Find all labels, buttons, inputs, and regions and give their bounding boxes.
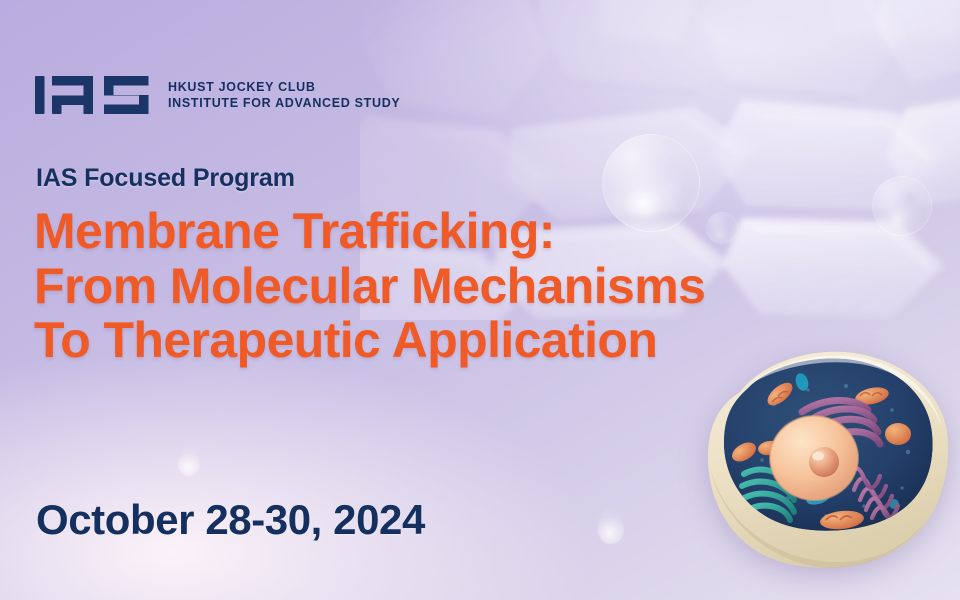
droplet-right-decor — [598, 508, 624, 544]
headline-line-3: To Therapeutic Application — [34, 313, 705, 368]
bubble-small-decor — [872, 176, 932, 236]
ias-logo-line2: INSTITUTE FOR ADVANCED STUDY — [168, 95, 400, 111]
program-eyebrow: IAS Focused Program — [36, 164, 295, 193]
page-title: Membrane Trafficking: From Molecular Mec… — [34, 204, 705, 368]
animal-cell-illustration — [696, 348, 958, 600]
poster-canvas: HKUST JOCKEY CLUB INSTITUTE FOR ADVANCED… — [0, 0, 960, 600]
ias-wordmark-icon — [34, 72, 156, 118]
droplet-left-decor — [178, 446, 200, 476]
ias-logo-line1: HKUST JOCKEY CLUB — [168, 79, 400, 95]
nucleolus-icon — [809, 447, 839, 477]
headline-line-2: From Molecular Mechanisms — [34, 259, 705, 314]
event-date: October 28-30, 2024 — [36, 496, 425, 544]
bubble-tiny-decor — [706, 212, 738, 244]
mitochondrion-icon — [885, 423, 911, 445]
headline-line-1: Membrane Trafficking: — [34, 204, 705, 259]
ias-logo-text: HKUST JOCKEY CLUB INSTITUTE FOR ADVANCED… — [168, 79, 400, 112]
ias-logo: HKUST JOCKEY CLUB INSTITUTE FOR ADVANCED… — [34, 72, 400, 118]
